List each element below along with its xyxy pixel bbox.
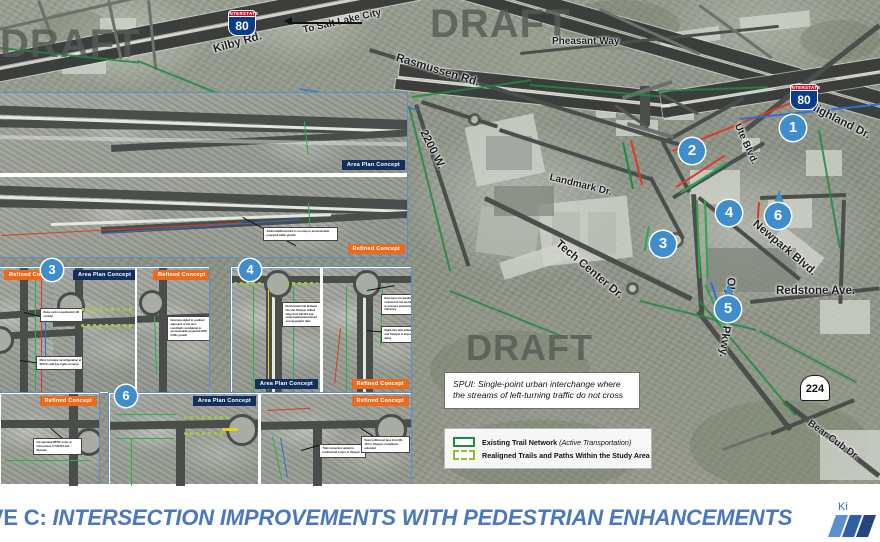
trail-line: [253, 286, 254, 392]
inset-6-image-area-plan: Area Plan Concept: [110, 394, 258, 486]
inset-4-number: 4: [239, 259, 261, 281]
map-marker-2[interactable]: 2: [679, 138, 705, 172]
centerline-yellow: [222, 428, 238, 431]
legend-item-realigned-trail: Realigned Trails and Paths Within the St…: [453, 450, 643, 460]
marker-number: 6: [765, 203, 791, 229]
building-block: [486, 136, 532, 170]
realigned-trail: [81, 308, 135, 311]
tag-refined-concept: Refined Concept: [352, 396, 409, 406]
roundabout: [139, 290, 165, 316]
inset-3-number: 3: [41, 259, 63, 281]
interstate-80-shield: INTERSTATE 80: [790, 84, 818, 110]
realigned-trail: [184, 432, 224, 435]
realigned-trail-swatch: [453, 450, 475, 460]
spui-definition-box: SPUI: Single-point urban interchange whe…: [444, 372, 640, 409]
median: [272, 282, 275, 392]
parking-lot: [494, 186, 554, 216]
realigned-trail: [184, 416, 228, 419]
kimley-horn-logo: Ki: [830, 501, 880, 539]
map-marker-5[interactable]: 5: [715, 296, 741, 330]
trail-existing: [819, 130, 841, 248]
trail-line: [35, 268, 36, 392]
callout-right-turn-lane: Right-turn lane added at Ute and Olympic…: [381, 326, 411, 343]
inset-image-area-plan: Area Plan Concept: [0, 93, 407, 173]
callout-trail-shift: North-South trail between Ute and Olympi…: [282, 302, 320, 327]
marker-number: 4: [716, 200, 742, 226]
realigned-trail: [81, 324, 135, 327]
tag-refined-concept: Refined Concept: [40, 396, 97, 406]
exhibit-title: NATIVE C: INTERSECTION IMPROVEMENTS WITH…: [0, 505, 792, 531]
map-marker-3[interactable]: 3: [650, 231, 676, 265]
concept-line-red: [41, 268, 42, 392]
inset-panel-6[interactable]: Area Plan Concept Trail connection added…: [108, 392, 412, 488]
title-colon: :: [39, 505, 46, 530]
inset-6-number: 6: [115, 385, 137, 407]
map-marker-6[interactable]: 6: [765, 203, 791, 237]
arterial: [1, 420, 99, 428]
legend-item-existing-trail: Existing Trail Network (Active Transport…: [453, 437, 643, 447]
median: [363, 282, 366, 392]
inset-panel-4[interactable]: North-South trail between Ute and Olympi…: [230, 266, 412, 394]
callout-new-lane-landmark: New lane added to southern approach of U…: [167, 316, 209, 341]
centerline-yellow: [268, 290, 269, 390]
title-subtitle: INTERSECTION IMPROVEMENTS WITH PEDESTRIA…: [53, 505, 793, 530]
concept-line-red: [630, 140, 643, 185]
road-2200-w-north: [421, 100, 498, 128]
road-label-landmark-dr: Landmark Dr.: [548, 172, 613, 198]
road-label-2200-w: 2200 W.: [417, 128, 447, 171]
callout-raise-curb: Raise curb to eastbound I-80 onramp: [40, 308, 82, 322]
callout-onramp-lane: Added additional lane to on-ramp to acco…: [263, 227, 338, 241]
inset-panel-group: Area Plan Concept Added additional lane …: [0, 92, 418, 258]
inset-panel-3[interactable]: Raise curb to eastbound I-80 onramp Mino…: [0, 266, 210, 394]
marker-number: 5: [715, 296, 741, 322]
legend-label-note: (Active Transportation): [559, 438, 631, 447]
arterial: [159, 268, 167, 392]
tag-area-plan-concept: Area Plan Concept: [255, 379, 318, 389]
map-legend: Existing Trail Network (Active Transport…: [444, 428, 652, 469]
marker-number: 3: [650, 231, 676, 257]
logo-text: Ki: [838, 501, 848, 513]
arterial: [75, 268, 83, 392]
inset-6-image-refined: Trail connection added to northbound cor…: [261, 394, 411, 486]
inset-panel-onramp[interactable]: Area Plan Concept Added additional lane …: [0, 92, 408, 258]
callout-wfrc-notes: Incorporated WFRC notes at intersection …: [33, 438, 82, 455]
roundabout: [468, 113, 481, 126]
building-block: [820, 300, 870, 334]
interstate-80-shield: INTERSTATE 80: [228, 10, 256, 36]
arterial: [20, 268, 28, 392]
road-label-redstone-ave: Redstone Ave.: [776, 285, 855, 297]
direction-arrow-line: [288, 22, 362, 24]
inset-4-image-area-plan: North-South trail between Ute and Olympi…: [232, 268, 320, 392]
inset-4-image-refined: East-west crosswalks removed at Ute and …: [323, 268, 411, 392]
legend-label-text: Existing Trail Network: [482, 438, 557, 447]
marker-number: 1: [780, 115, 806, 141]
alternative-label: NATIVE C: [0, 505, 39, 530]
realigned-trail: [234, 282, 264, 285]
realigned-trail: [286, 282, 318, 285]
map-marker-1[interactable]: 1: [780, 115, 806, 149]
trail-line: [131, 438, 132, 486]
tag-area-plan-concept: Area Plan Concept: [193, 396, 256, 406]
white-spacer: [0, 484, 880, 497]
tag-refined-concept: Refined Concept: [153, 270, 209, 280]
direction-arrow-head: [284, 17, 292, 25]
draft-watermark: DRAFT: [466, 327, 593, 369]
tag-refined-concept: Refined Concept: [352, 379, 409, 389]
roundabout: [626, 282, 639, 295]
title-bar: NATIVE C: INTERSECTION IMPROVEMENTS WITH…: [0, 497, 880, 542]
legend-label: Existing Trail Network (Active Transport…: [482, 438, 631, 447]
marker-number: 2: [679, 138, 705, 164]
tag-area-plan-concept: Area Plan Concept: [73, 270, 135, 280]
draft-watermark: DRAFT: [0, 22, 141, 67]
roundabout: [353, 270, 381, 298]
state-route-224-shield: 224: [800, 375, 830, 401]
tag-refined-concept: Refined Concept: [348, 244, 405, 254]
shield-number: 80: [228, 16, 256, 36]
inset-panel-5[interactable]: Refined Concept Incorporated WFRC notes …: [0, 392, 100, 488]
map-marker-4[interactable]: 4: [716, 200, 742, 234]
existing-trail-swatch: [453, 437, 475, 447]
callout-nb-lane-extended: New northbound lane from SR-224 to Olymp…: [361, 436, 410, 453]
callout-trail-connection: Trail connection added to northbound cor…: [319, 444, 366, 458]
legend-label: Realigned Trails and Paths Within the St…: [482, 451, 650, 460]
shield-number: 80: [790, 90, 818, 110]
inset-5-image-right: Incorporated WFRC notes at intersection …: [1, 394, 99, 486]
exhibit-canvas: DRAFT DRAFT DRAFT Kilby Rd. To Salt Lake…: [0, 0, 880, 542]
callout-crosswalks-removed: East-west crosswalks removed at Ute and …: [381, 294, 411, 315]
draft-watermark: DRAFT: [430, 2, 571, 47]
concept-line-green: [704, 200, 709, 278]
trail-line: [346, 286, 347, 392]
inset-image-refined: Added additional lane to on-ramp to acco…: [0, 177, 407, 257]
road-label-pheasant-way: Pheasant Way: [552, 36, 619, 47]
tag-area-plan-concept: Area Plan Concept: [342, 160, 405, 170]
inset-3-image-refined-right: New lane added to southern approach of U…: [137, 268, 209, 392]
callout-turn-lane-reconfig: Minor turn-lane reconfiguration at SPUI …: [36, 356, 82, 370]
